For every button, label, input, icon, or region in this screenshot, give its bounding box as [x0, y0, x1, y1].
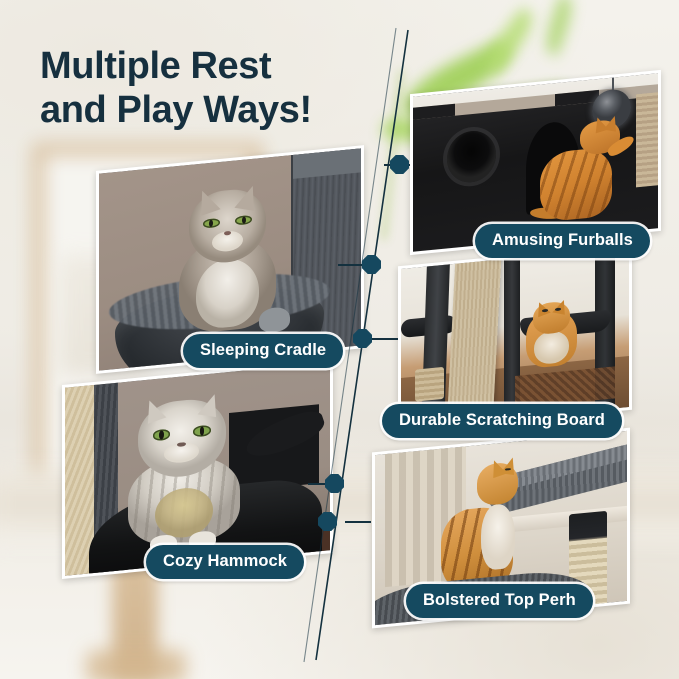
cat-eye-icon: [555, 307, 561, 310]
cat-eye-icon: [193, 425, 211, 437]
page-title: Multiple Rest and Play Ways!: [40, 44, 420, 132]
feature-label-durable-scratching-board: Durable Scratching Board: [382, 404, 622, 438]
feature-photo-durable-scratching-board: [401, 247, 629, 429]
cat-stripes: [540, 146, 612, 222]
plant-leaf-icon: [480, 7, 540, 76]
cat-ear-icon: [603, 115, 619, 132]
cat-ear-icon: [500, 457, 517, 476]
cat-chest: [481, 502, 514, 571]
cat-silver-tabby: [123, 391, 245, 549]
cat-eye-icon: [203, 218, 220, 229]
feature-label-cozy-hammock: Cozy Hammock: [146, 545, 304, 579]
cat-ear-icon: [143, 396, 167, 423]
product-feature-infographic: Multiple Rest and Play Ways!: [0, 0, 679, 679]
feature-photo-cozy-hammock: [65, 362, 330, 576]
cat-ear-icon: [234, 184, 259, 211]
sisal-post-base: [415, 367, 445, 402]
cat-ear-icon: [197, 392, 221, 417]
cat-orange-tabby: [526, 300, 576, 369]
sisal-panel: [636, 92, 658, 187]
sisal-scratching-board: [447, 257, 501, 426]
cat-ear-icon: [195, 186, 220, 215]
feature-label-bolstered-top-perh: Bolstered Top Perh: [406, 584, 593, 618]
cat-eye-icon: [153, 429, 171, 441]
cat-grey-tabby: [167, 175, 288, 336]
feature-label-amusing-furballs: Amusing Furballs: [475, 224, 650, 258]
background-wooden-base: [86, 650, 186, 679]
cat-eye-icon: [235, 215, 252, 226]
feature-label-sleeping-cradle: Sleeping Cradle: [183, 334, 343, 368]
cat-ear-icon: [552, 298, 568, 314]
cat-head: [477, 462, 518, 506]
cat-orange-tabby: [540, 118, 623, 222]
cat-body: [540, 146, 612, 222]
plant-leaf-icon: [540, 0, 577, 56]
